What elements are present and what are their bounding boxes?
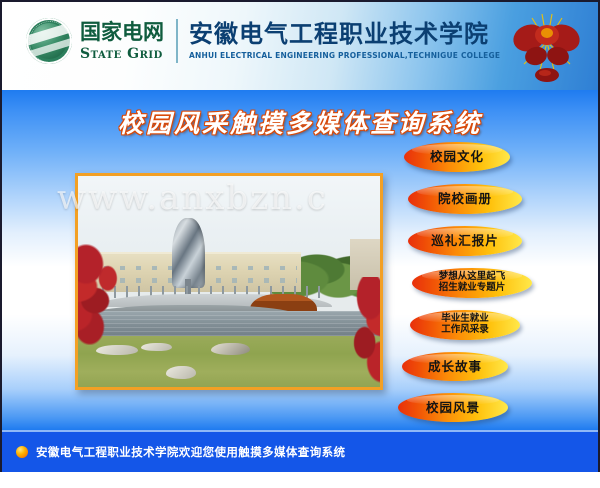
main-body: 校园风采触摸多媒体查询系统	[2, 90, 598, 430]
page-title-text: 校园风采触摸多媒体查询系统	[118, 104, 482, 140]
photo-rock	[166, 366, 196, 379]
photo-sculpture	[172, 218, 205, 288]
menu-button-growth-stories[interactable]: 成长故事	[402, 352, 508, 381]
main-menu: 校园文化 院校画册 巡礼汇报片 梦想从这里起飞 招生就业专题片 毕业生就业 工作…	[394, 142, 544, 430]
photo-rock	[211, 343, 250, 356]
application-frame: 国家电网 State Grid 安徽电气工程职业技术学院 ANHUI ELECT…	[0, 0, 600, 472]
menu-button-admission-employment-film[interactable]: 梦想从这里起飞 招生就业专题片	[412, 268, 532, 298]
campus-photo	[78, 176, 380, 387]
status-bar-text: 安徽电气工程职业技术学院欢迎您使用触摸多媒体查询系统	[36, 444, 345, 460]
state-grid-globe-icon	[26, 18, 72, 64]
school-wordmark: 安徽电气工程职业技术学院 ANHUI ELECTRICAL ENGINEERIN…	[189, 22, 500, 60]
menu-button-tour-report-film[interactable]: 巡礼汇报片	[408, 226, 522, 256]
menu-button-label: 梦想从这里起飞 招生就业专题片	[439, 272, 506, 293]
menu-button-label: 成长故事	[428, 360, 482, 373]
emblem-ring	[29, 21, 71, 63]
orange-dot-icon	[16, 446, 28, 458]
page-title: 校园风采触摸多媒体查询系统	[2, 104, 598, 140]
menu-button-label: 院校画册	[438, 192, 492, 205]
campus-photo-frame[interactable]	[75, 173, 383, 390]
menu-button-label: 巡礼汇报片	[431, 234, 499, 247]
page-bottom-margin	[0, 472, 600, 488]
state-grid-name-en: State Grid	[80, 47, 164, 61]
status-bar: 安徽电气工程职业技术学院欢迎您使用触摸多媒体查询系统	[2, 430, 598, 472]
header-divider	[176, 19, 178, 63]
menu-button-label: 校园风景	[426, 401, 480, 414]
app-screen: 国家电网 State Grid 安徽电气工程职业技术学院 ANHUI ELECT…	[0, 0, 600, 488]
header-logo-group: 国家电网 State Grid 安徽电气工程职业技术学院 ANHUI ELECT…	[26, 18, 500, 64]
firework-flower-icon	[502, 8, 592, 88]
state-grid-name-cn: 国家电网	[80, 22, 164, 43]
menu-button-campus-scenery[interactable]: 校园风景	[398, 393, 508, 422]
menu-button-campus-culture[interactable]: 校园文化	[404, 142, 510, 172]
photo-rock	[96, 345, 138, 356]
photo-maple-tree-right	[320, 277, 380, 383]
menu-button-label: 校园文化	[430, 150, 484, 163]
menu-button-graduate-employment-record[interactable]: 毕业生就业 工作风采录	[410, 310, 520, 340]
state-grid-wordmark: 国家电网 State Grid	[80, 22, 164, 61]
school-name-en: ANHUI ELECTRICAL ENGINEERING PROFESSIONA…	[189, 52, 500, 60]
menu-button-college-album[interactable]: 院校画册	[408, 184, 522, 214]
menu-button-label: 毕业生就业 工作风采录	[441, 314, 489, 335]
school-name-cn: 安徽电气工程职业技术学院	[189, 22, 500, 46]
header-banner: 国家电网 State Grid 安徽电气工程职业技术学院 ANHUI ELECT…	[2, 2, 598, 90]
photo-maple-tree-left	[78, 244, 157, 345]
